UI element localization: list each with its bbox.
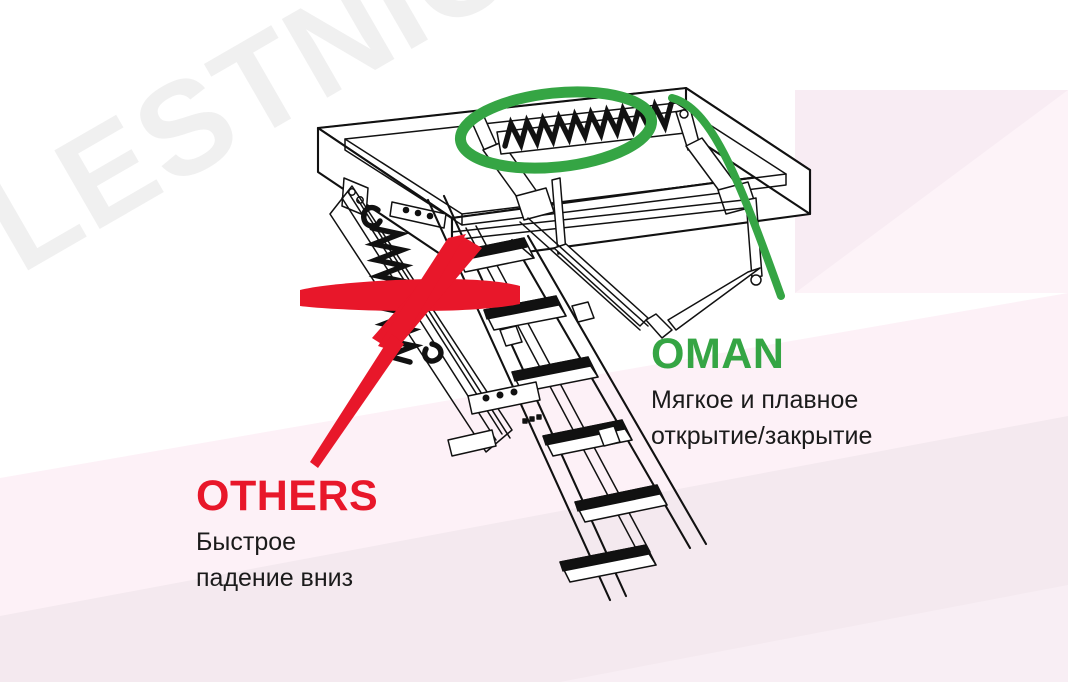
callout-others-line2: падение вниз <box>196 561 378 597</box>
red-leader-line <box>310 334 404 468</box>
ladder-step <box>575 485 667 522</box>
callout-oman: OMAN Мягкое и плавное открытие/закрытие <box>651 332 872 454</box>
illustration-canvas: LESTNIC-PROSTO.RU .ln { fill:none; strok… <box>0 0 1068 682</box>
ladder-step <box>560 545 656 582</box>
callout-others: OTHERS Быстрое падение вниз <box>196 474 378 596</box>
callout-others-title: OTHERS <box>196 474 378 519</box>
callout-oman-line1: Мягкое и плавное <box>651 383 872 419</box>
callout-oman-line2: открытие/закрытие <box>651 419 872 455</box>
ladder-illustration: .ln { fill:none; stroke:#111; stroke-wid… <box>0 0 1068 682</box>
callout-others-line1: Быстрое <box>196 525 378 561</box>
callout-oman-title: OMAN <box>651 332 872 377</box>
